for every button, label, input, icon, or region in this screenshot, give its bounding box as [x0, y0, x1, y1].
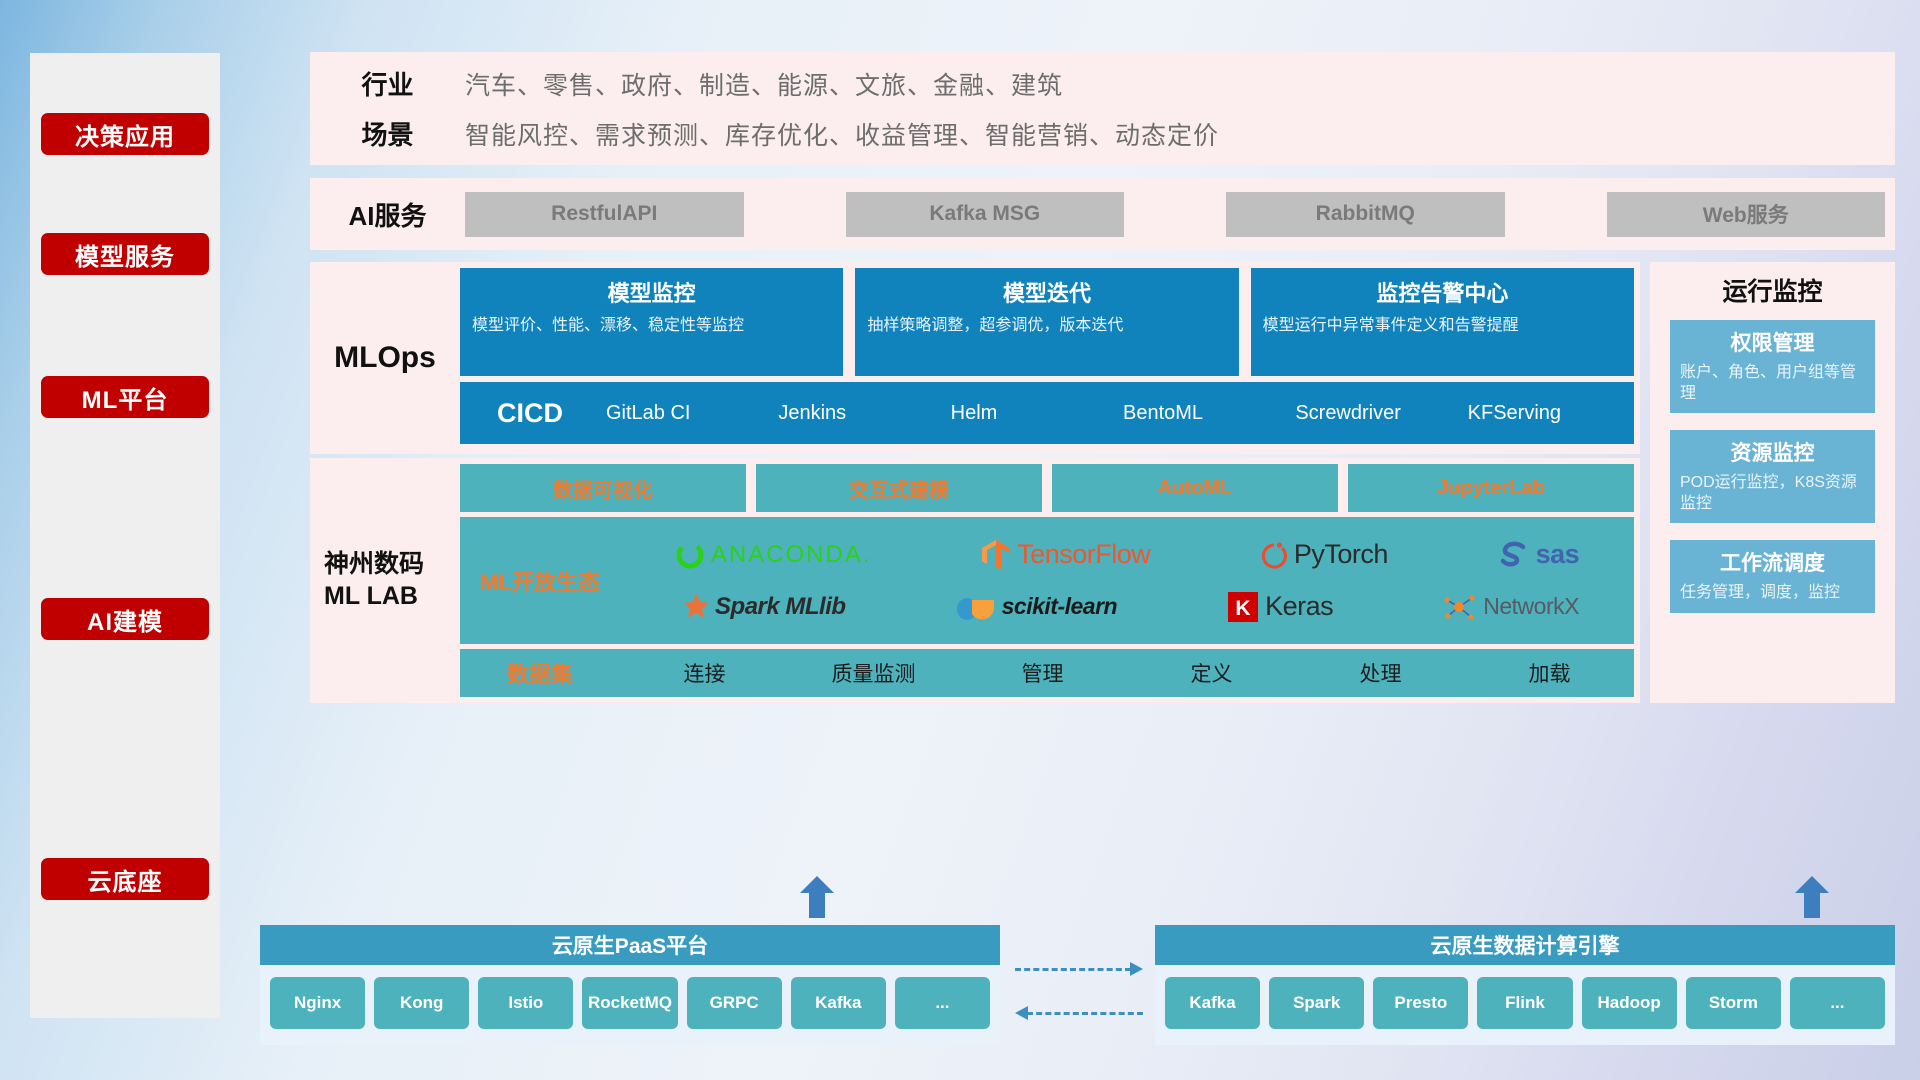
sas-logo: sas [1498, 539, 1580, 570]
industry-values: 汽车、零售、政府、制造、能源、文旅、金融、建筑 [465, 66, 1063, 102]
compute-chip-kafka[interactable]: Kafka [1165, 977, 1260, 1029]
application-band: 行业 汽车、零售、政府、制造、能源、文旅、金融、建筑 场景 智能风控、需求预测、… [310, 52, 1895, 165]
scikit-learn-logo: scikit-learn [956, 592, 1117, 622]
scikit-learn-icon [956, 592, 996, 622]
mlops-card-desc: 模型评价、性能、漂移、稳定性等监控 [472, 315, 831, 337]
monitoring-card-workflow[interactable]: 工作流调度 任务管理，调度，监控 [1670, 540, 1875, 612]
cloud-paas-chips: Nginx Kong Istio RocketMQ GRPC Kafka ... [260, 965, 1000, 1041]
monitoring-card-resources[interactable]: 资源监控 POD运行监控，K8S资源监控 [1670, 430, 1875, 523]
ml-eco-title: ML开放生态 [460, 565, 620, 597]
scenario-values: 智能风控、需求预测、库存优化、收益管理、智能营销、动态定价 [465, 116, 1219, 152]
cicd-row: CICD GitLab CI Jenkins Helm BentoML Scre… [460, 382, 1634, 444]
mlops-card-title: 模型监控 [472, 276, 831, 308]
cloud-chip-grpc[interactable]: GRPC [687, 977, 782, 1029]
layer-chip-decision[interactable]: 决策应用 [41, 113, 209, 155]
mlops-label: MLOps [310, 262, 460, 454]
tensorflow-logo: TensorFlow [981, 539, 1150, 571]
ml-lab-tab-automl[interactable]: AutoML [1052, 464, 1338, 512]
sas-icon [1498, 540, 1530, 570]
ai-service-item-rabbitmq[interactable]: RabbitMQ [1226, 192, 1505, 237]
cloud-paas-title: 云原生PaaS平台 [260, 925, 1000, 965]
dashed-arrow-left-icon [1015, 1012, 1143, 1015]
dataset-item-define[interactable]: 定义 [1127, 658, 1296, 688]
ml-lab-label-line2: ML LAB [324, 581, 418, 612]
scenario-row: 场景 智能风控、需求预测、库存优化、收益管理、智能营销、动态定价 [310, 109, 1895, 159]
compute-chip-storm[interactable]: Storm [1686, 977, 1781, 1029]
ai-service-item-restfulapi[interactable]: RestfulAPI [465, 192, 744, 237]
mlops-card-alert-center[interactable]: 监控告警中心 模型运行中异常事件定义和告警提醒 [1251, 268, 1634, 376]
ml-lab-tab-data-viz[interactable]: 数据可视化 [460, 464, 746, 512]
keras-logo: K Keras [1227, 591, 1333, 623]
monitoring-band: 运行监控 权限管理 账户、角色、用户组等管理 资源监控 POD运行监控，K8S资… [1650, 262, 1895, 703]
ml-lab-tab-jupyterlab[interactable]: JupyterLab [1348, 464, 1634, 512]
dataset-item-manage[interactable]: 管理 [958, 658, 1127, 688]
layer-rail: 决策应用 模型服务 ML平台 AI建模 云底座 [30, 53, 220, 1018]
keras-icon: K [1227, 591, 1259, 623]
networkx-logo-text: NetworkX [1483, 593, 1579, 620]
ml-eco-logo-row-1: ANACONDA. TensorFlow [620, 530, 1634, 580]
monitoring-card-permissions[interactable]: 权限管理 账户、角色、用户组等管理 [1670, 320, 1875, 413]
cloud-compute-chips: Kafka Spark Presto Flink Hadoop Storm ..… [1155, 965, 1895, 1041]
compute-chip-flink[interactable]: Flink [1477, 977, 1572, 1029]
ai-service-item-kafka-msg[interactable]: Kafka MSG [846, 192, 1125, 237]
cloud-compute-title: 云原生数据计算引擎 [1155, 925, 1895, 965]
cicd-item-gitlab-ci[interactable]: GitLab CI [600, 402, 772, 425]
ml-lab-band: 神州数码 ML LAB 数据可视化 交互式建模 AutoML JupyterLa… [310, 458, 1640, 703]
dataset-title: 数据集 [460, 657, 620, 689]
dataset-row: 数据集 连接 质量监测 管理 定义 处理 加载 [460, 649, 1634, 697]
mlops-content: 模型监控 模型评价、性能、漂移、稳定性等监控 模型迭代 抽样策略调整，超参调优，… [460, 262, 1640, 454]
networkx-icon [1443, 592, 1477, 622]
industry-row: 行业 汽车、零售、政府、制造、能源、文旅、金融、建筑 [310, 59, 1895, 109]
ml-eco-logo-row-2: Spark MLlib scikit-learn [620, 582, 1634, 632]
cicd-title: CICD [460, 398, 600, 429]
cloud-chip-nginx[interactable]: Nginx [270, 977, 365, 1029]
dataset-item-quality[interactable]: 质量监测 [789, 658, 958, 688]
layer-chip-ai-modeling[interactable]: AI建模 [41, 598, 209, 640]
svg-text:K: K [1236, 597, 1251, 620]
pytorch-logo-text: PyTorch [1294, 539, 1388, 570]
ml-lab-content: 数据可视化 交互式建模 AutoML JupyterLab ML开放生态 ANA… [460, 458, 1640, 703]
mlops-card-desc: 模型运行中异常事件定义和告警提醒 [1263, 315, 1622, 337]
compute-chip-more[interactable]: ... [1790, 977, 1885, 1029]
spark-mllib-logo: Spark MLlib [675, 592, 846, 622]
cicd-item-kfserving[interactable]: KFServing [1462, 402, 1634, 425]
cicd-item-bentoml[interactable]: BentoML [1117, 402, 1289, 425]
keras-logo-text: Keras [1265, 591, 1333, 622]
monitoring-title: 运行监控 [1722, 272, 1822, 308]
ml-lab-tab-interactive[interactable]: 交互式建模 [756, 464, 1042, 512]
spark-star-icon [675, 592, 709, 622]
cloud-chip-more[interactable]: ... [895, 977, 990, 1029]
ai-service-item-web[interactable]: Web服务 [1607, 192, 1886, 237]
ml-lab-tabs: 数据可视化 交互式建模 AutoML JupyterLab [460, 464, 1634, 512]
cicd-item-helm[interactable]: Helm [945, 402, 1117, 425]
mlops-card-desc: 抽样策略调整，超参调优，版本迭代 [867, 315, 1226, 337]
pytorch-icon [1260, 539, 1288, 571]
mlops-cards: 模型监控 模型评价、性能、漂移、稳定性等监控 模型迭代 抽样策略调整，超参调优，… [460, 268, 1634, 376]
ml-lab-label-line1: 神州数码 [324, 549, 424, 580]
ai-service-items: RestfulAPI Kafka MSG RabbitMQ Web服务 [465, 192, 1895, 237]
compute-chip-hadoop[interactable]: Hadoop [1582, 977, 1677, 1029]
dataset-item-process[interactable]: 处理 [1296, 658, 1465, 688]
mlops-card-model-iteration[interactable]: 模型迭代 抽样策略调整，超参调优，版本迭代 [855, 268, 1238, 376]
networkx-logo: NetworkX [1443, 592, 1579, 622]
layer-chip-cloud-base[interactable]: 云底座 [41, 858, 209, 900]
diagram-main: 行业 汽车、零售、政府、制造、能源、文旅、金融、建筑 场景 智能风控、需求预测、… [250, 0, 1895, 1080]
cloud-paas-panel: 云原生PaaS平台 Nginx Kong Istio RocketMQ GRPC… [260, 925, 1000, 1045]
scenario-label: 场景 [310, 115, 465, 152]
layer-chip-ml-platform[interactable]: ML平台 [41, 376, 209, 418]
anaconda-logo: ANACONDA. [675, 540, 872, 570]
monitoring-card-desc: 账户、角色、用户组等管理 [1680, 362, 1865, 404]
ml-eco-panel: ML开放生态 ANACONDA. [460, 517, 1634, 644]
scikit-learn-logo-text: scikit-learn [1002, 593, 1117, 620]
monitoring-card-title: 工作流调度 [1680, 547, 1865, 577]
spark-mllib-logo-text: Spark MLlib [715, 593, 846, 621]
monitoring-card-desc: POD运行监控，K8S资源监控 [1680, 472, 1865, 514]
cicd-items: GitLab CI Jenkins Helm BentoML Screwdriv… [600, 402, 1634, 425]
mlops-card-title: 监控告警中心 [1263, 276, 1622, 308]
dataset-item-connect[interactable]: 连接 [620, 658, 789, 688]
monitoring-card-desc: 任务管理，调度，监控 [1680, 582, 1865, 603]
mlops-band: MLOps 模型监控 模型评价、性能、漂移、稳定性等监控 模型迭代 抽样策略调整… [310, 262, 1640, 454]
monitoring-card-title: 权限管理 [1680, 327, 1865, 357]
ml-eco-logos: ANACONDA. TensorFlow [620, 530, 1634, 632]
ml-lab-label: 神州数码 ML LAB [310, 458, 460, 703]
ai-service-label: AI服务 [310, 196, 465, 233]
up-arrow-paas-icon [800, 876, 834, 918]
up-arrow-compute-icon [1795, 876, 1829, 918]
tensorflow-logo-text: TensorFlow [1017, 539, 1150, 570]
compute-chip-presto[interactable]: Presto [1373, 977, 1468, 1029]
compute-chip-spark[interactable]: Spark [1269, 977, 1364, 1029]
tensorflow-icon [981, 539, 1011, 571]
cloud-chip-rocketmq[interactable]: RocketMQ [582, 977, 677, 1029]
pytorch-logo: PyTorch [1260, 539, 1388, 571]
dashed-arrow-right-icon [1015, 968, 1143, 971]
dataset-item-load[interactable]: 加载 [1465, 658, 1634, 688]
ai-service-band: AI服务 RestfulAPI Kafka MSG RabbitMQ Web服务 [310, 178, 1895, 250]
dataset-items: 连接 质量监测 管理 定义 处理 加载 [620, 658, 1634, 688]
anaconda-icon [675, 540, 705, 570]
cicd-item-jenkins[interactable]: Jenkins [772, 402, 944, 425]
cicd-item-screwdriver[interactable]: Screwdriver [1289, 402, 1461, 425]
anaconda-logo-text: ANACONDA. [711, 541, 872, 569]
sas-logo-text: sas [1536, 539, 1580, 570]
cloud-chip-kafka[interactable]: Kafka [791, 977, 886, 1029]
cloud-chip-kong[interactable]: Kong [374, 977, 469, 1029]
mlops-card-title: 模型迭代 [867, 276, 1226, 308]
cloud-compute-panel: 云原生数据计算引擎 Kafka Spark Presto Flink Hadoo… [1155, 925, 1895, 1045]
monitoring-card-title: 资源监控 [1680, 437, 1865, 467]
layer-chip-model-svc[interactable]: 模型服务 [41, 233, 209, 275]
cloud-chip-istio[interactable]: Istio [478, 977, 573, 1029]
mlops-card-model-monitor[interactable]: 模型监控 模型评价、性能、漂移、稳定性等监控 [460, 268, 843, 376]
industry-label: 行业 [310, 65, 465, 102]
